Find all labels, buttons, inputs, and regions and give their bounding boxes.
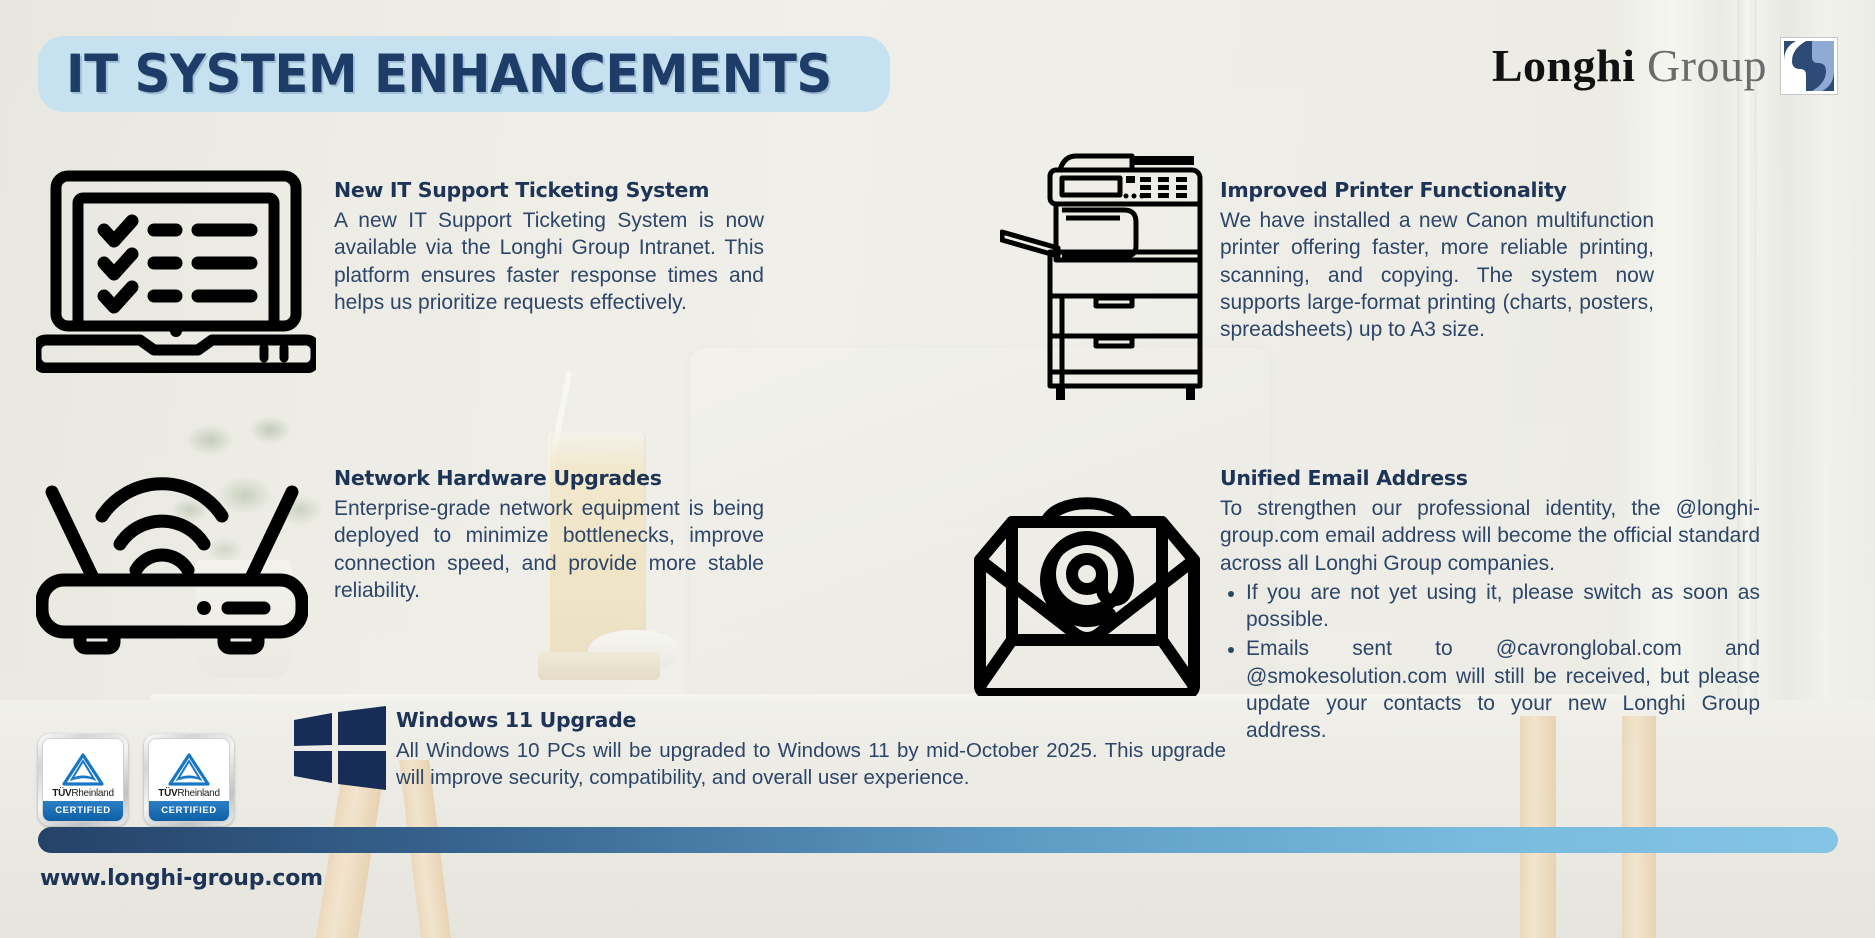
list-item: If you are not yet using it, please swit… [1246, 579, 1760, 634]
section-body-network: Enterprise-grade network equipment is be… [334, 495, 764, 604]
certification-badges: TÜVRheinland CERTIFIED TÜVRheinland CERT… [38, 734, 234, 826]
badge-brand-name: TÜVRheinland [43, 788, 123, 801]
tuv-triangle-icon [43, 739, 123, 788]
section-heading-printer: Improved Printer Functionality [1220, 178, 1654, 202]
tuv-rheinland-badge: TÜVRheinland CERTIFIED [144, 734, 234, 826]
section-heading-windows: Windows 11 Upgrade [396, 708, 1226, 732]
windows-logo-icon [294, 706, 386, 790]
longhi-group-logomark-icon [1781, 38, 1837, 94]
section-windows: Windows 11 Upgrade All Windows 10 PCs wi… [396, 708, 1226, 792]
email-envelope-icon [968, 488, 1206, 696]
footer-website-url[interactable]: www.longhi-group.com [40, 866, 323, 891]
section-printer: Improved Printer Functionality We have i… [1220, 178, 1654, 343]
logo-wordmark: Longhi Group [1492, 43, 1767, 89]
page-title: IT SYSTEM ENHANCEMENTS [66, 40, 837, 108]
footer-gradient-bar [38, 827, 1838, 853]
multifunction-printer-icon [1000, 140, 1210, 402]
section-ticketing: New IT Support Ticketing System A new IT… [334, 178, 764, 316]
badge-status-label: CERTIFIED [43, 801, 123, 821]
section-heading-email: Unified Email Address [1220, 466, 1760, 490]
badge-inner: TÜVRheinland CERTIFIED [148, 738, 230, 822]
tuv-rheinland-badge: TÜVRheinland CERTIFIED [38, 734, 128, 826]
list-item: Emails sent to @cavronglobal.com and @sm… [1246, 635, 1760, 744]
tuv-triangle-icon [149, 739, 229, 788]
section-network: Network Hardware Upgrades Enterprise-gra… [334, 466, 764, 604]
section-heading-network: Network Hardware Upgrades [334, 466, 764, 490]
email-bullet-list: If you are not yet using it, please swit… [1246, 579, 1760, 745]
logo-secondary-text: Group [1647, 40, 1767, 91]
laptop-checklist-icon [36, 168, 316, 373]
infographic-poster: IT SYSTEM ENHANCEMENTS Longhi Group [0, 0, 1875, 938]
badge-status-label: CERTIFIED [149, 801, 229, 821]
section-body-email: To strengthen our professional identity,… [1220, 495, 1760, 577]
brand-logo: Longhi Group [1492, 38, 1837, 94]
badge-brand-name: TÜVRheinland [149, 788, 229, 801]
section-email: Unified Email Address To strengthen our … [1220, 466, 1760, 745]
section-heading-ticketing: New IT Support Ticketing System [334, 178, 764, 202]
badge-inner: TÜVRheinland CERTIFIED [42, 738, 124, 822]
section-body-windows: All Windows 10 PCs will be upgraded to W… [396, 737, 1226, 792]
section-body-printer: We have installed a new Canon multifunct… [1220, 207, 1654, 343]
section-body-ticketing: A new IT Support Ticketing System is now… [334, 207, 764, 316]
logo-primary-text: Longhi [1492, 40, 1636, 91]
wifi-router-icon [36, 474, 308, 658]
